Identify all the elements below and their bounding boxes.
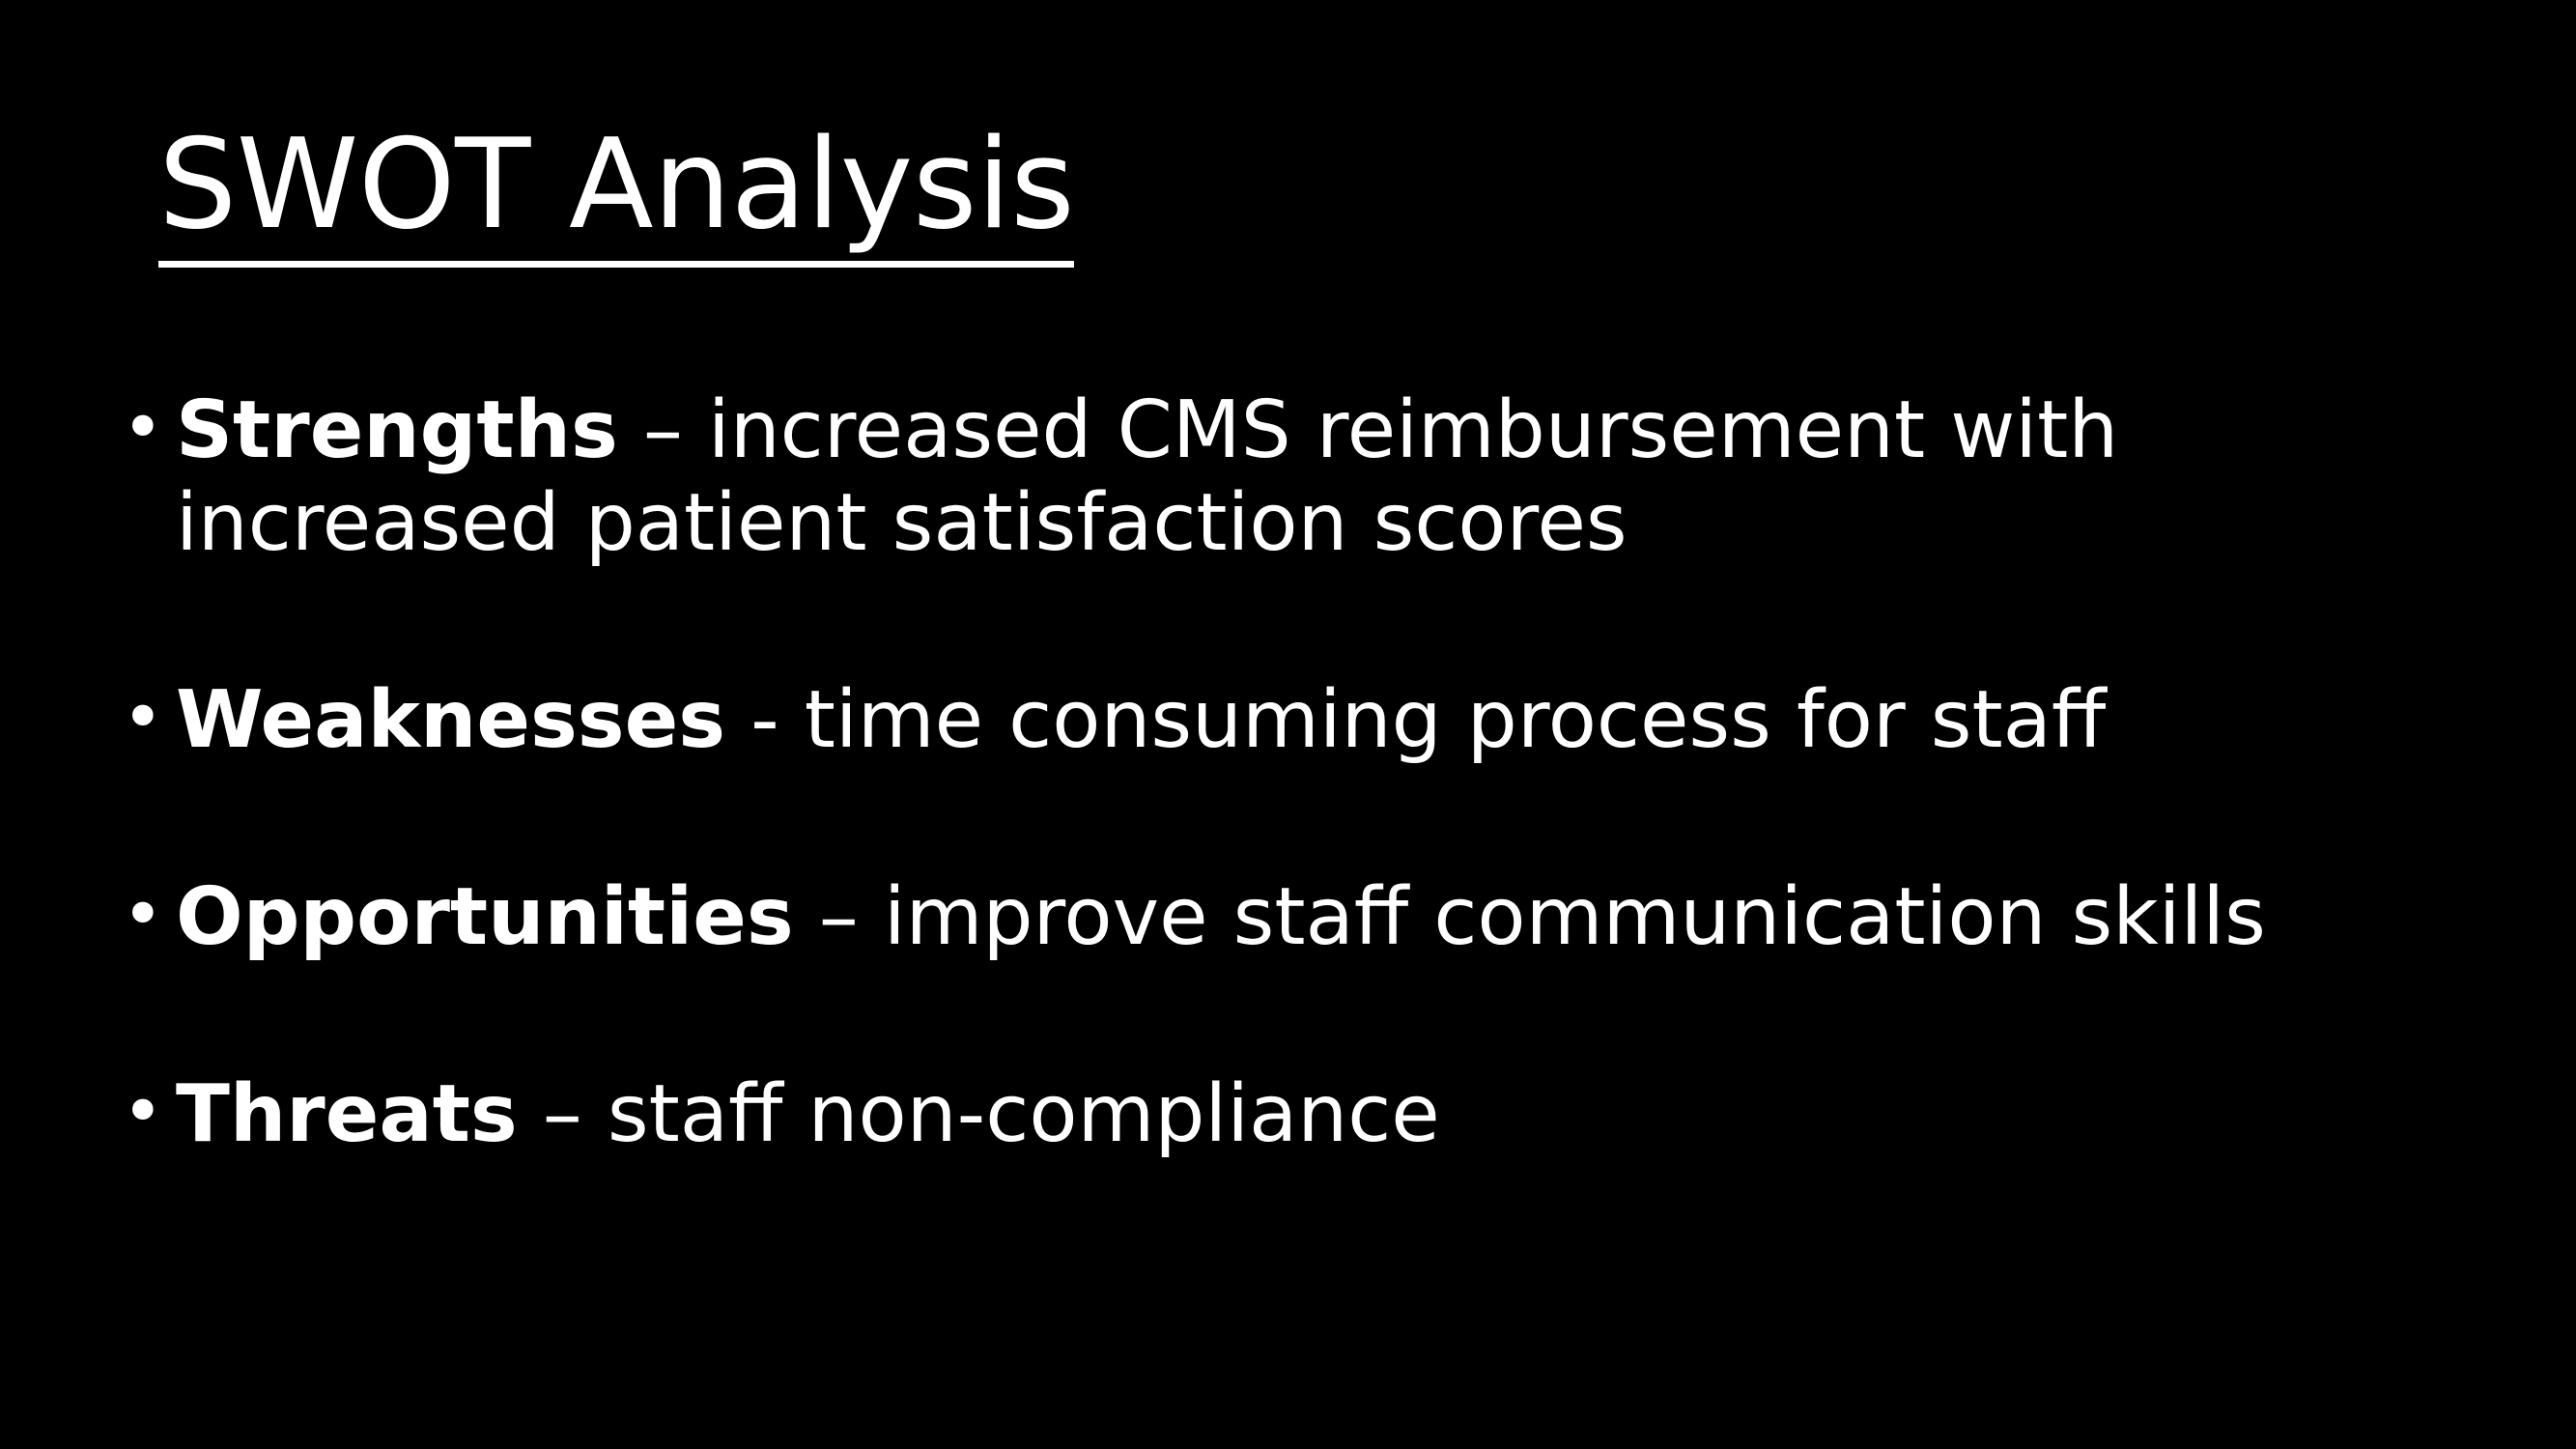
bullet-separator-weaknesses: - bbox=[725, 674, 805, 766]
list-item-threats: • Threats – staff non-compliance bbox=[122, 1068, 2517, 1161]
bullet-separator-strengths: – bbox=[618, 384, 708, 476]
bullet-point-icon: • bbox=[122, 871, 176, 960]
bullet-description-opportunities: improve staff communication skills bbox=[884, 871, 2266, 963]
bullet-spacer bbox=[122, 964, 2517, 1068]
bullet-keyword-strengths: Strengths bbox=[176, 384, 618, 476]
list-item-text: Opportunities – improve staff communicat… bbox=[176, 871, 2407, 964]
list-item-weaknesses: • Weaknesses - time consuming process fo… bbox=[122, 674, 2517, 767]
bullet-separator-opportunities: – bbox=[794, 871, 884, 963]
list-item-text: Strengths – increased CMS reimbursement … bbox=[176, 384, 2407, 570]
bullet-keyword-threats: Threats bbox=[176, 1068, 518, 1160]
bullet-keyword-weaknesses: Weaknesses bbox=[176, 674, 725, 766]
page-title: SWOT Analysis bbox=[158, 124, 1074, 268]
presentation-slide: SWOT Analysis • Strengths – increased CM… bbox=[0, 0, 2576, 1449]
list-item-text: Threats – staff non-compliance bbox=[176, 1068, 2407, 1161]
bullet-spacer bbox=[122, 570, 2517, 674]
swot-bullet-list: • Strengths – increased CMS reimbursemen… bbox=[122, 384, 2517, 1161]
bullet-spacer bbox=[122, 767, 2517, 871]
bullet-separator-threats: – bbox=[518, 1068, 608, 1160]
bullet-description-weaknesses: time consuming process for staff bbox=[805, 674, 2107, 766]
list-item-opportunities: • Opportunities – improve staff communic… bbox=[122, 871, 2517, 964]
list-item-strengths: • Strengths – increased CMS reimbursemen… bbox=[122, 384, 2517, 570]
bullet-description-threats: staff non-compliance bbox=[608, 1068, 1440, 1160]
list-item-text: Weaknesses - time consuming process for … bbox=[176, 674, 2407, 767]
slide-title-container: SWOT Analysis bbox=[158, 124, 1074, 268]
bullet-keyword-opportunities: Opportunities bbox=[176, 871, 794, 963]
bullet-point-icon: • bbox=[122, 384, 176, 473]
bullet-point-icon: • bbox=[122, 674, 176, 763]
bullet-point-icon: • bbox=[122, 1068, 176, 1157]
